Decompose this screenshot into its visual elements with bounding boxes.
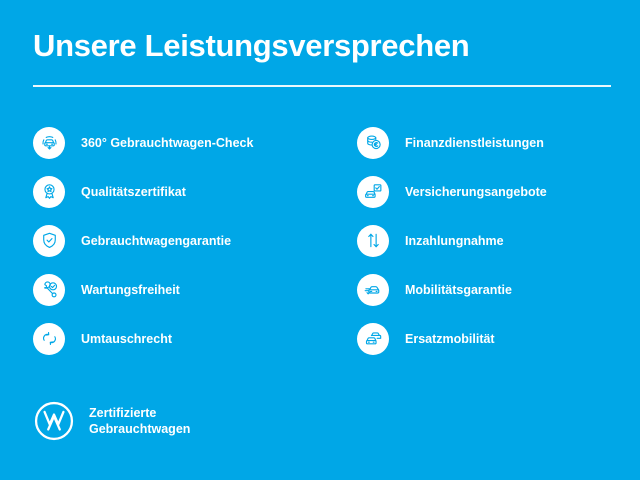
wrench-check-icon	[33, 274, 65, 306]
feature-item[interactable]: Mobilitätsgarantie	[357, 265, 627, 314]
shield-check-icon	[33, 225, 65, 257]
footer-logo-lockup: Zertifizierte Gebrauchtwagen	[33, 400, 190, 442]
feature-label: Versicherungsangebote	[405, 184, 547, 200]
exchange-arrows-icon	[33, 323, 65, 355]
feature-item[interactable]: Wartungsfreiheit	[33, 265, 333, 314]
feature-item[interactable]: Ersatzmobilität	[357, 314, 627, 363]
feature-item[interactable]: Finanzdienstleistungen	[357, 118, 627, 167]
feature-item[interactable]: Inzahlungnahme	[357, 216, 627, 265]
feature-item[interactable]: 360° Gebrauchtwagen-Check	[33, 118, 333, 167]
coins-euro-icon	[357, 127, 389, 159]
feature-item[interactable]: Versicherungsangebote	[357, 167, 627, 216]
header: Unsere Leistungsversprechen	[33, 28, 611, 87]
car-check-icon	[357, 274, 389, 306]
feature-column-right: Finanzdienstleistungen Versicherungsange…	[357, 118, 627, 363]
feature-label: Gebrauchtwagengarantie	[81, 233, 231, 249]
feature-item[interactable]: Gebrauchtwagengarantie	[33, 216, 333, 265]
feature-label: Inzahlungnahme	[405, 233, 504, 249]
feature-label: Umtauschrecht	[81, 331, 172, 347]
car-360-check-icon	[33, 127, 65, 159]
award-rosette-icon	[33, 176, 65, 208]
two-cars-icon	[357, 323, 389, 355]
arrows-up-down-icon	[357, 225, 389, 257]
feature-label: 360° Gebrauchtwagen-Check	[81, 135, 253, 151]
feature-item[interactable]: Qualitätszertifikat	[33, 167, 333, 216]
feature-label: Mobilitätsgarantie	[405, 282, 512, 298]
footer-line-1: Zertifizierte	[89, 405, 190, 421]
header-divider	[33, 85, 611, 87]
footer-line-2: Gebrauchtwagen	[89, 421, 190, 437]
feature-column-left: 360° Gebrauchtwagen-Check Qualitätszerti…	[33, 118, 333, 363]
feature-item[interactable]: Umtauschrecht	[33, 314, 333, 363]
slide-root: Unsere Leistungsversprechen 360° Gebrauc	[0, 0, 640, 480]
feature-label: Qualitätszertifikat	[81, 184, 186, 200]
features-section: 360° Gebrauchtwagen-Check Qualitätszerti…	[0, 118, 640, 363]
volkswagen-logo	[33, 400, 75, 442]
feature-label: Finanzdienstleistungen	[405, 135, 544, 151]
page-title: Unsere Leistungsversprechen	[33, 28, 611, 64]
feature-label: Ersatzmobilität	[405, 331, 495, 347]
footer-text: Zertifizierte Gebrauchtwagen	[89, 405, 190, 437]
feature-label: Wartungsfreiheit	[81, 282, 180, 298]
car-document-check-icon	[357, 176, 389, 208]
